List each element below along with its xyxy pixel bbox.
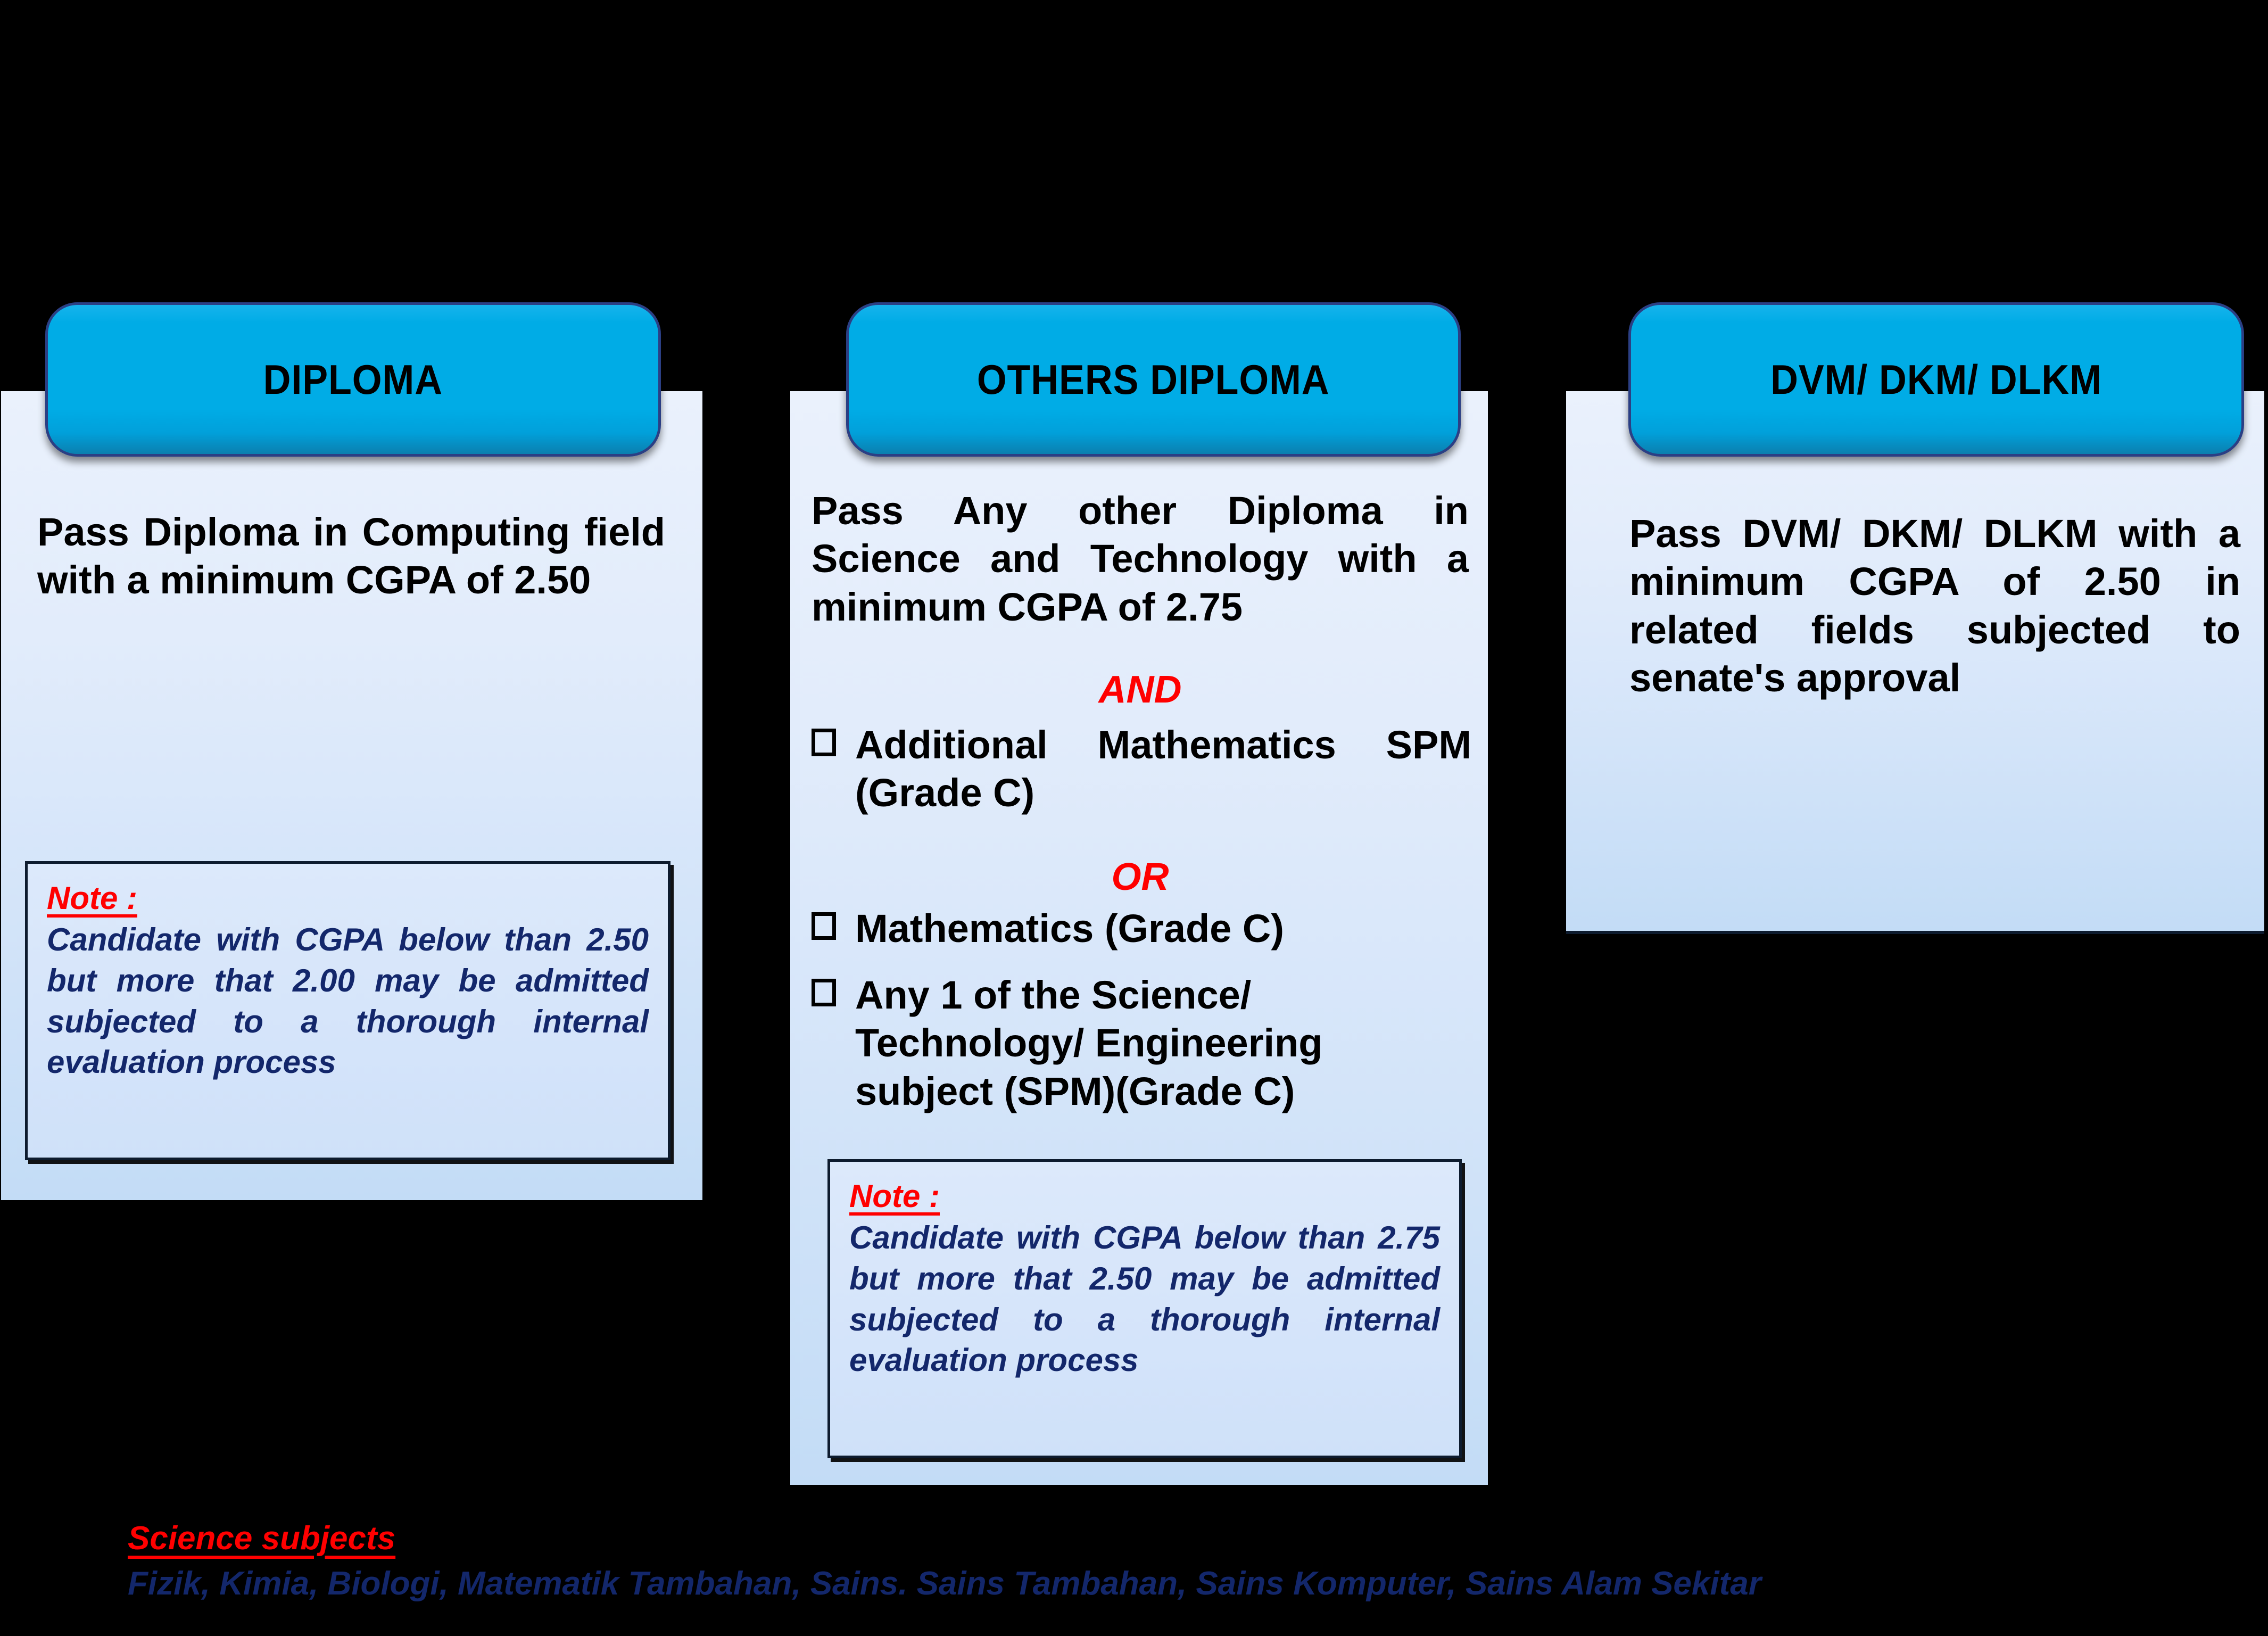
checkbox-square-icon (812, 979, 836, 1006)
checkbox-square-icon (812, 912, 836, 940)
note-body-others-diploma: Candidate with CGPA below than 2.75 but … (849, 1218, 1440, 1381)
note-box-others-diploma: Note : Candidate with CGPA below than 2.… (827, 1159, 1462, 1458)
header-chip-label-others-diploma: OTHERS DIPLOMA (977, 356, 1330, 404)
body-text-others-diploma: Pass Any other Diploma in Science and Te… (812, 487, 1469, 631)
header-chip-label-dvm-dkm-dlkm: DVM/ DKM/ DLKM (1770, 356, 2102, 404)
note-title-diploma: Note : (47, 880, 137, 916)
bullet-item-1-label: Additional Mathematics SPM (Grade C) (855, 721, 1471, 817)
bullet-item-2: Mathematics (Grade C) (812, 905, 1471, 953)
connector-and: AND (812, 668, 1469, 712)
footer-subject-list: Fizik, Kimia, Biologi, Matematik Tambaha… (128, 1565, 2203, 1602)
bullet-item-1: Additional Mathematics SPM (Grade C) (812, 721, 1471, 817)
header-chip-others-diploma[interactable]: OTHERS DIPLOMA (846, 302, 1461, 457)
footer-science-subjects: Science subjects Fizik, Kimia, Biologi, … (128, 1519, 2203, 1602)
footer-title: Science subjects (128, 1519, 395, 1557)
header-chip-label-diploma: DIPLOMA (263, 356, 443, 404)
checkbox-square-icon (812, 729, 836, 756)
header-chip-dvm-dkm-dlkm[interactable]: DVM/ DKM/ DLKM (1628, 302, 2244, 457)
body-text-diploma: Pass Diploma in Computing field with a m… (37, 508, 665, 605)
bullet-item-3-label: Any 1 of the Science/ Technology/ Engine… (855, 971, 1471, 1116)
connector-or: OR (812, 855, 1469, 899)
bullet-item-2-label: Mathematics (Grade C) (855, 905, 1471, 953)
note-title-others-diploma: Note : (849, 1178, 940, 1214)
bullet-item-3: Any 1 of the Science/ Technology/ Engine… (812, 971, 1471, 1116)
note-box-diploma: Note : Candidate with CGPA below than 2.… (25, 861, 671, 1160)
body-text-dvm-dkm-dlkm: Pass DVM/ DKM/ DLKM with a minimum CGPA … (1629, 510, 2240, 702)
note-body-diploma: Candidate with CGPA below than 2.50 but … (47, 920, 649, 1083)
header-chip-diploma[interactable]: DIPLOMA (45, 302, 661, 457)
